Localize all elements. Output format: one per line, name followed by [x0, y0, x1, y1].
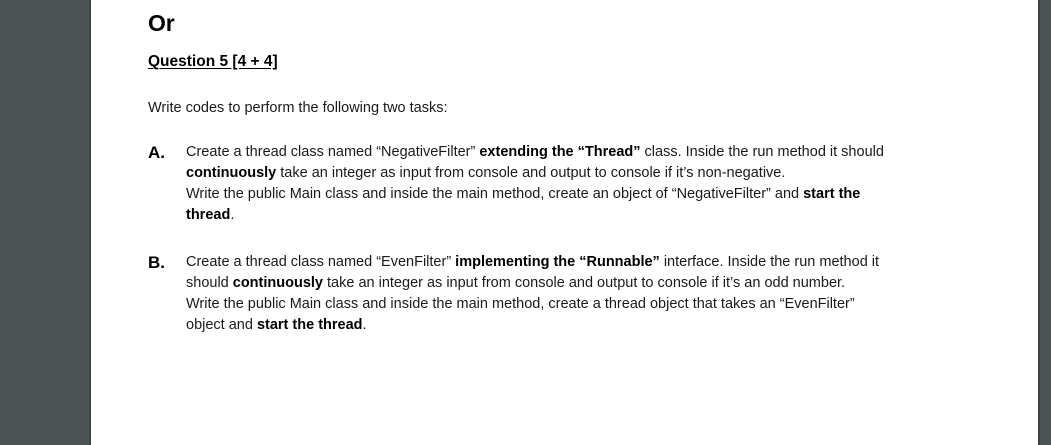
- question-title: Question 5 [4 + 4]: [148, 53, 278, 71]
- emphasis-text: start the thread: [257, 317, 363, 333]
- task-text: Create a thread class named “NegativeFil…: [186, 142, 1003, 226]
- task-text: Create a thread class named “EvenFilter”…: [186, 252, 1003, 336]
- body-text: take an integer as input from console an…: [276, 165, 785, 181]
- task-line: Create a thread class named “NegativeFil…: [186, 142, 1003, 163]
- body-text: Create a thread class named “NegativeFil…: [186, 144, 479, 160]
- question-title-row: Question 5 [4 + 4]: [148, 53, 1003, 85]
- page-heading: Or: [148, 10, 1003, 36]
- task-line: Create a thread class named “EvenFilter”…: [186, 252, 1003, 273]
- right-gutter: [1040, 0, 1051, 445]
- body-text: should: [186, 275, 233, 291]
- body-text: class. Inside the run method it should: [641, 144, 884, 160]
- body-text: .: [230, 207, 234, 223]
- left-gutter: [0, 0, 89, 445]
- body-text: Create a thread class named “EvenFilter”: [186, 254, 455, 270]
- task-marker: B.: [148, 251, 165, 276]
- task-line: thread.: [186, 205, 1003, 226]
- emphasis-text: thread: [186, 207, 230, 223]
- body-text: Write the public Main class and inside t…: [186, 186, 803, 202]
- body-text: object and: [186, 317, 257, 333]
- task-line: object and start the thread.: [186, 315, 1003, 336]
- page-content: Or Question 5 [4 + 4] Write codes to per…: [148, 10, 1003, 336]
- body-text: interface. Inside the run method it: [660, 254, 879, 270]
- task-line: Write the public Main class and inside t…: [186, 294, 1003, 315]
- emphasis-text: start the: [803, 186, 860, 202]
- body-text: take an integer as input from console an…: [323, 275, 845, 291]
- emphasis-text: extending the “Thread”: [479, 144, 640, 160]
- task-list: A.Create a thread class named “NegativeF…: [148, 142, 1003, 336]
- task-line: Write the public Main class and inside t…: [186, 184, 1003, 205]
- task-line: continuously take an integer as input fr…: [186, 163, 1003, 184]
- task-marker: A.: [148, 141, 165, 166]
- emphasis-text: continuously: [186, 165, 276, 181]
- body-text: .: [363, 317, 367, 333]
- task-line: should continuously take an integer as i…: [186, 273, 1003, 294]
- intro-text: Write codes to perform the following two…: [148, 99, 1003, 118]
- body-text: Write the public Main class and inside t…: [186, 296, 855, 312]
- document-viewer: Or Question 5 [4 + 4] Write codes to per…: [0, 0, 1051, 445]
- emphasis-text: continuously: [233, 275, 323, 291]
- emphasis-text: implementing the “Runnable”: [455, 254, 660, 270]
- document-page: Or Question 5 [4 + 4] Write codes to per…: [91, 0, 1038, 445]
- task-item: B.Create a thread class named “EvenFilte…: [148, 252, 1003, 336]
- task-item: A.Create a thread class named “NegativeF…: [148, 142, 1003, 226]
